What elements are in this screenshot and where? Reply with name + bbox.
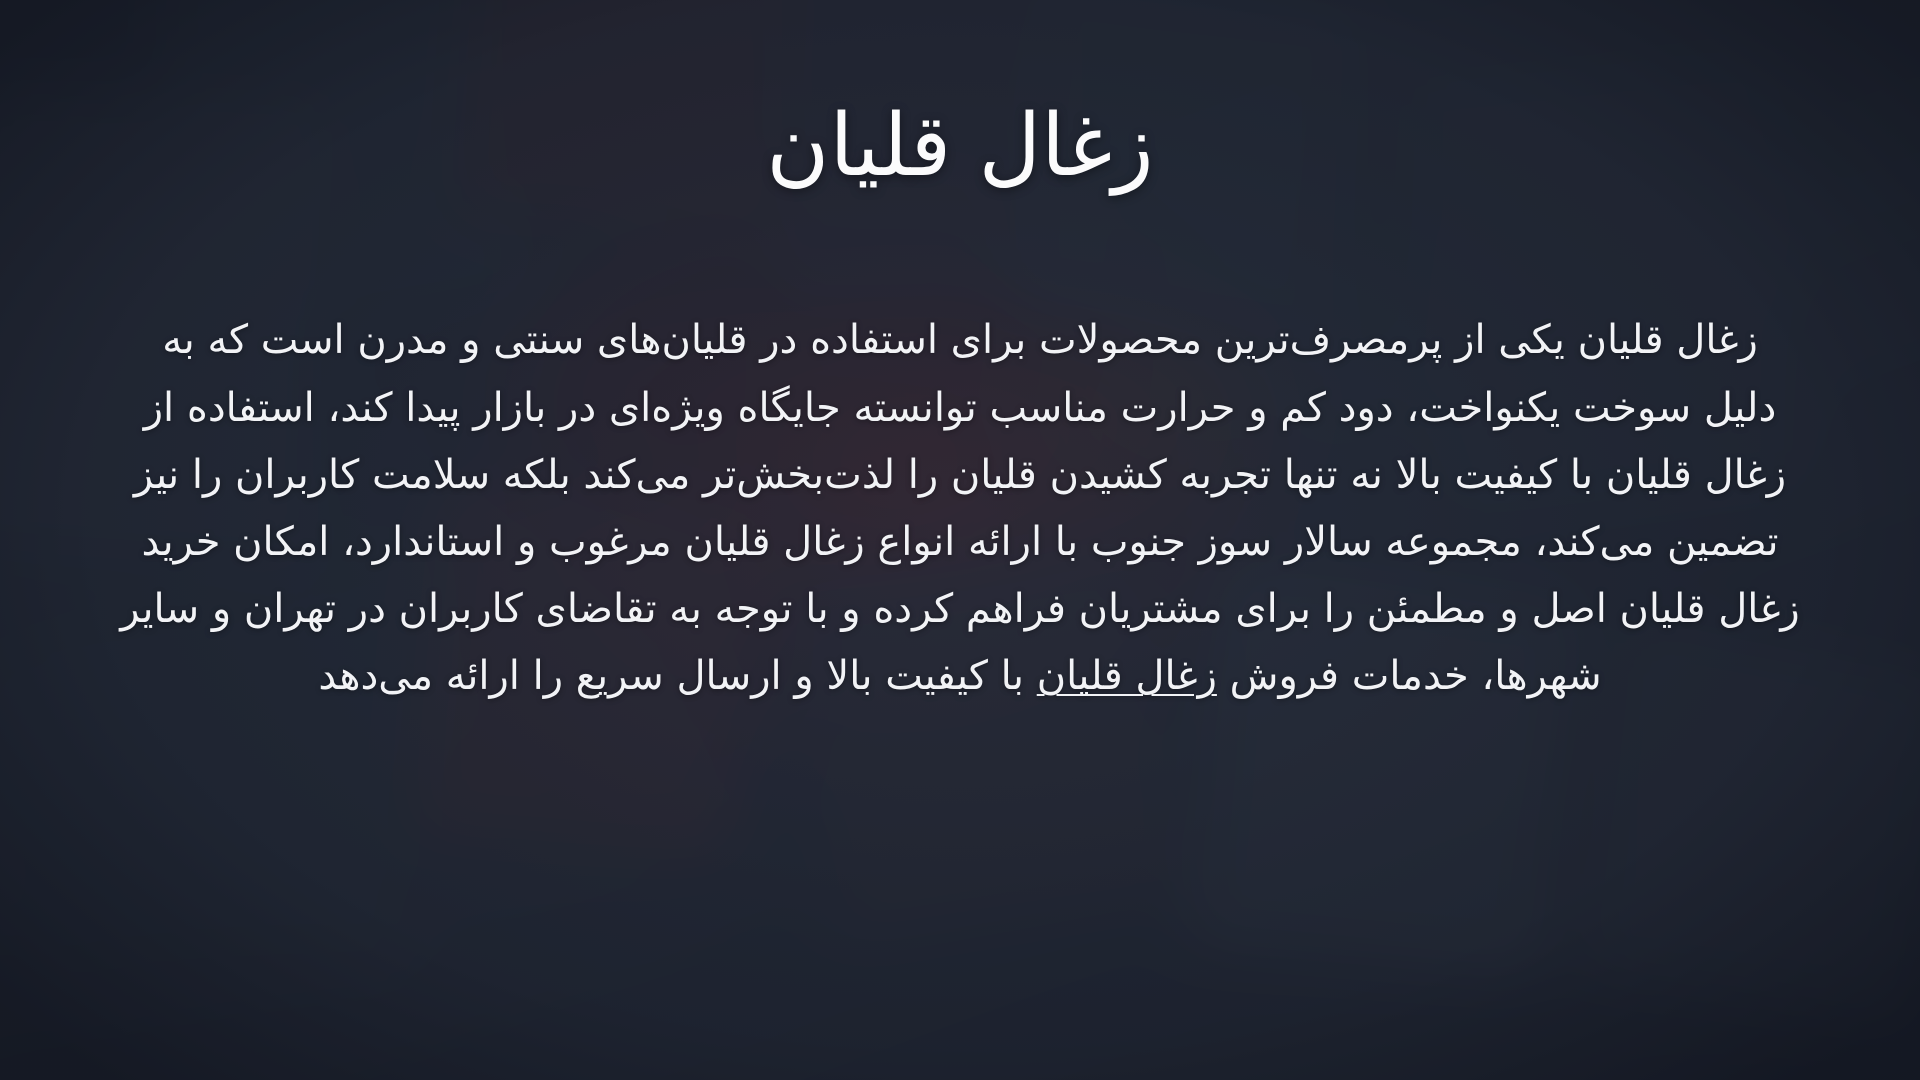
hookah-charcoal-link[interactable]: زغال قلیان [1037,653,1217,699]
page-title: زغال قلیان [766,96,1153,197]
paragraph-text-after-link: با کیفیت بالا و ارسال سریع را ارائه می‌د… [318,653,1036,699]
hero-section: زغال قلیان زغال قلیان یکی از پرمصرف‌ترین… [0,0,1920,1080]
paragraph-text-before-link: زغال قلیان یکی از پرمصرف‌ترین محصولات بر… [120,317,1799,699]
hero-paragraph: زغال قلیان یکی از پرمصرف‌ترین محصولات بر… [120,307,1800,710]
hero-content: زغال قلیان زغال قلیان یکی از پرمصرف‌ترین… [0,0,1920,1080]
